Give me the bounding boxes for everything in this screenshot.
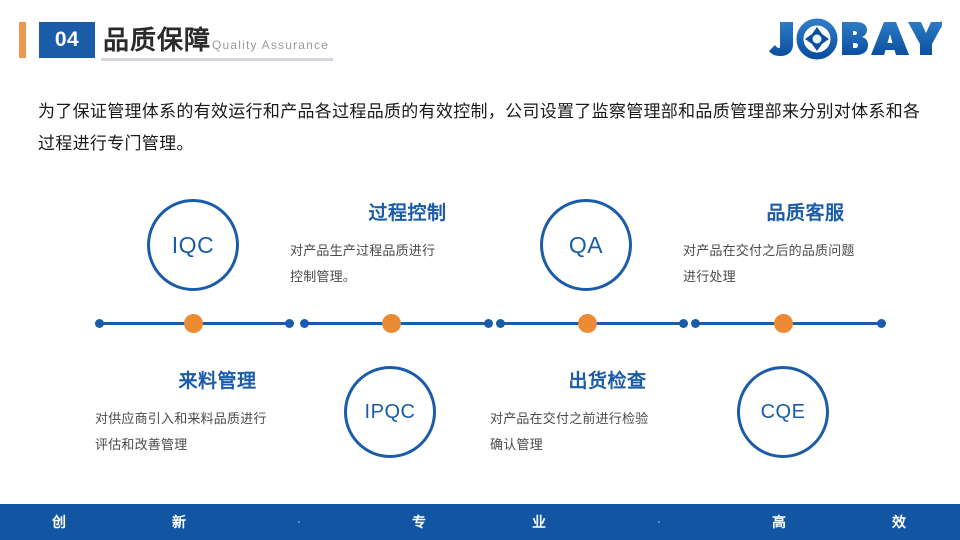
stage-heading-outgoing-inspection: 出货检查 <box>490 370 725 394</box>
logo-letter-j <box>769 22 793 56</box>
timeline-endpoint-dot-4b <box>877 319 886 328</box>
page-footer: 创 新 · 专 业 · 高 效 <box>0 504 960 540</box>
stage-circle-qa[interactable]: QA <box>540 199 632 291</box>
stage-heading-process-control: 过程控制 <box>290 202 525 226</box>
logo-letter-y <box>908 22 942 55</box>
footer-word-1: 创 <box>0 512 120 532</box>
section-number-badge: 04 <box>39 22 95 58</box>
logo-letter-b <box>842 22 868 55</box>
timeline-node-1 <box>184 314 203 333</box>
stage-desc-outgoing-inspection-line2: 确认管理 <box>490 432 725 458</box>
timeline-endpoint-dot-3a <box>496 319 505 328</box>
footer-word-6: 效 <box>840 512 960 532</box>
quality-process-timeline: IQC QA IPQC CQE 过程控制 对产品生产过程品质进行 控制管理。 品… <box>0 180 960 500</box>
page-title: 品质保障 <box>103 22 211 58</box>
footer-separator-2: · <box>600 516 720 528</box>
stage-circle-qa-label: QA <box>569 232 603 259</box>
timeline-endpoint-dot-1a <box>95 319 104 328</box>
stage-circle-iqc-label: IQC <box>172 232 214 259</box>
intro-paragraph: 为了保证管理体系的有效运行和产品各过程品质的有效控制，公司设置了监察管理部和品质… <box>38 96 924 160</box>
timeline-endpoint-dot-1b <box>285 319 294 328</box>
stage-heading-incoming-material: 来料管理 <box>95 370 340 394</box>
timeline-endpoint-dot-3b <box>679 319 688 328</box>
stage-circle-cqe-label: CQE <box>761 401 806 424</box>
page-subtitle: Quality Assurance <box>212 38 329 52</box>
section-number: 04 <box>55 28 79 52</box>
timeline-node-2 <box>382 314 401 333</box>
footer-word-2: 新 <box>120 512 240 532</box>
stage-desc-incoming-material-line2: 评估和改善管理 <box>95 432 340 458</box>
timeline-node-4 <box>774 314 793 333</box>
jobay-logo-graphic: ® <box>762 14 942 62</box>
stage-circle-cqe[interactable]: CQE <box>737 366 829 458</box>
timeline-endpoint-dot-2a <box>300 319 309 328</box>
stage-block-process-control: 过程控制 对产品生产过程品质进行 控制管理。 <box>290 202 525 290</box>
timeline-node-3 <box>578 314 597 333</box>
footer-word-5: 高 <box>720 512 840 532</box>
stage-block-quality-service: 品质客服 对产品在交付之后的品质问题 进行处理 <box>683 202 928 290</box>
logo-letter-a <box>871 22 909 55</box>
stage-desc-incoming-material-line1: 对供应商引入和来料品质进行 <box>95 406 340 432</box>
footer-separator-1: · <box>240 516 360 528</box>
stage-desc-outgoing-inspection-line1: 对产品在交付之前进行检验 <box>490 406 725 432</box>
stage-desc-quality-service-line1: 对产品在交付之后的品质问题 <box>683 238 928 264</box>
diamond-center <box>813 35 822 44</box>
stage-desc-process-control-line2: 控制管理。 <box>290 264 525 290</box>
jobay-logo: ® <box>762 14 942 62</box>
title-underline <box>101 58 333 61</box>
stage-desc-process-control-line1: 对产品生产过程品质进行 <box>290 238 525 264</box>
timeline-endpoint-dot-4a <box>691 319 700 328</box>
footer-word-3: 专 <box>360 512 480 532</box>
page-header: 04 品质保障 Quality Assurance ® <box>0 0 960 78</box>
stage-circle-iqc[interactable]: IQC <box>147 199 239 291</box>
footer-word-4: 业 <box>480 512 600 532</box>
stage-desc-quality-service-line2: 进行处理 <box>683 264 928 290</box>
accent-bar <box>19 22 26 58</box>
stage-circle-ipqc[interactable]: IPQC <box>344 366 436 458</box>
timeline-endpoint-dot-2b <box>484 319 493 328</box>
stage-circle-ipqc-label: IPQC <box>365 401 416 424</box>
registered-mark: ® <box>938 20 942 30</box>
stage-block-outgoing-inspection: 出货检查 对产品在交付之前进行检验 确认管理 <box>490 370 725 458</box>
stage-block-incoming-material: 来料管理 对供应商引入和来料品质进行 评估和改善管理 <box>95 370 340 458</box>
stage-heading-quality-service: 品质客服 <box>683 202 928 226</box>
